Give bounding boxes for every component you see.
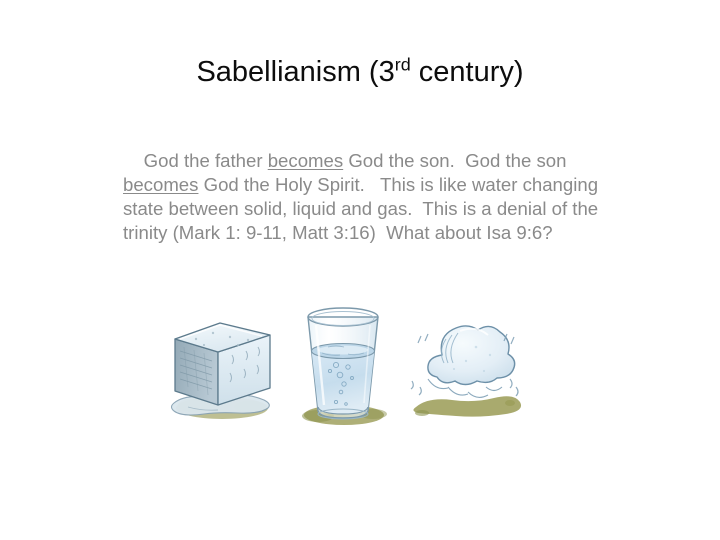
steam-shadow bbox=[413, 396, 521, 416]
body-segment-0: God the father bbox=[144, 150, 268, 171]
title-ordinal-superscript: rd bbox=[395, 54, 411, 74]
page-title: Sabellianism (3rd century) bbox=[40, 55, 680, 89]
title-text-after: century) bbox=[411, 56, 524, 88]
states-of-water-illustration bbox=[150, 295, 530, 440]
body-paragraph: God the father becomes God the son. God … bbox=[123, 125, 623, 269]
steam-cloud-illustration bbox=[398, 295, 528, 440]
cloud-body bbox=[428, 326, 515, 397]
ice-cube-illustration bbox=[158, 295, 288, 440]
title-text-before: Sabellianism (3 bbox=[196, 56, 394, 88]
body-segment-2: God the son. God the son bbox=[343, 150, 571, 171]
ice-cube-body bbox=[175, 323, 270, 405]
body-segment-3-underlined: becomes bbox=[123, 174, 198, 195]
slide-canvas: Sabellianism (3rd century) God the fathe… bbox=[0, 0, 720, 540]
body-segment-1-underlined: becomes bbox=[268, 150, 343, 171]
glass-of-water-illustration bbox=[278, 295, 408, 440]
glass-body bbox=[308, 308, 378, 419]
